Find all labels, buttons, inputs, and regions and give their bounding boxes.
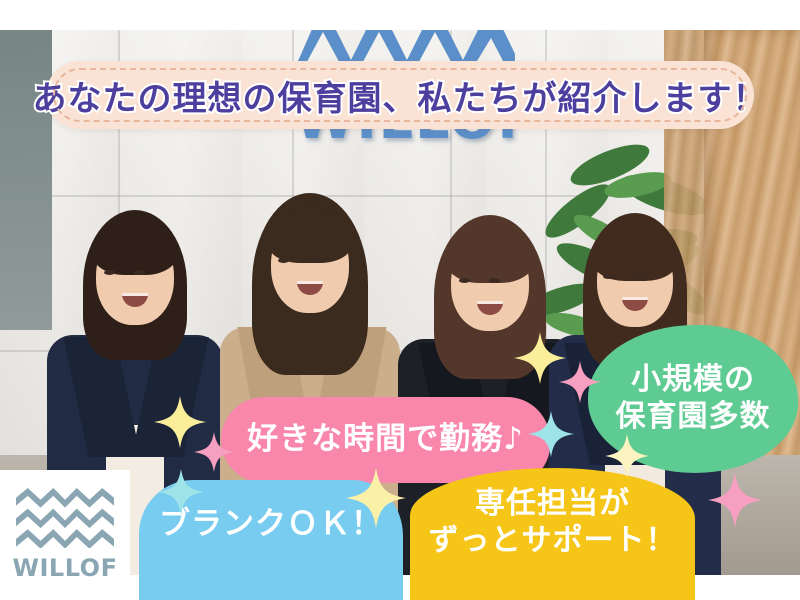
sparkle-cyan-mid-icon bbox=[528, 411, 574, 457]
callout-dedicated-support-text: 専任担当が ずっとサポート！ bbox=[429, 486, 677, 559]
sparkle-cream-mid-icon bbox=[346, 468, 406, 528]
callout-small-nursery-text: 小規模の 保育園多数 bbox=[616, 362, 771, 435]
sparkle-pink-right-icon bbox=[708, 473, 762, 527]
sparkle-cream-yellow-icon bbox=[605, 434, 649, 478]
headline-banner: あなたの理想の保育園、私たちが紹介します！ bbox=[46, 61, 754, 129]
sparkle-pink-upper-icon bbox=[559, 361, 601, 403]
sparkle-pink-left-icon bbox=[194, 432, 234, 472]
callout-flexible-hours-text: 好きな時間で勤務♪ bbox=[247, 421, 524, 459]
willof-chevron-icon bbox=[16, 488, 114, 549]
willof-logo-badge: WILLOF bbox=[0, 470, 130, 600]
callout-dedicated-support: 専任担当が ずっとサポート！ bbox=[410, 468, 695, 600]
ad-creative: WILLOF bbox=[0, 0, 800, 600]
sparkle-cyan-left-icon bbox=[158, 469, 204, 515]
willof-logo-text: WILLOF bbox=[13, 554, 118, 582]
headline-text: あなたの理想の保育園、私たちが紹介します！ bbox=[33, 71, 768, 120]
